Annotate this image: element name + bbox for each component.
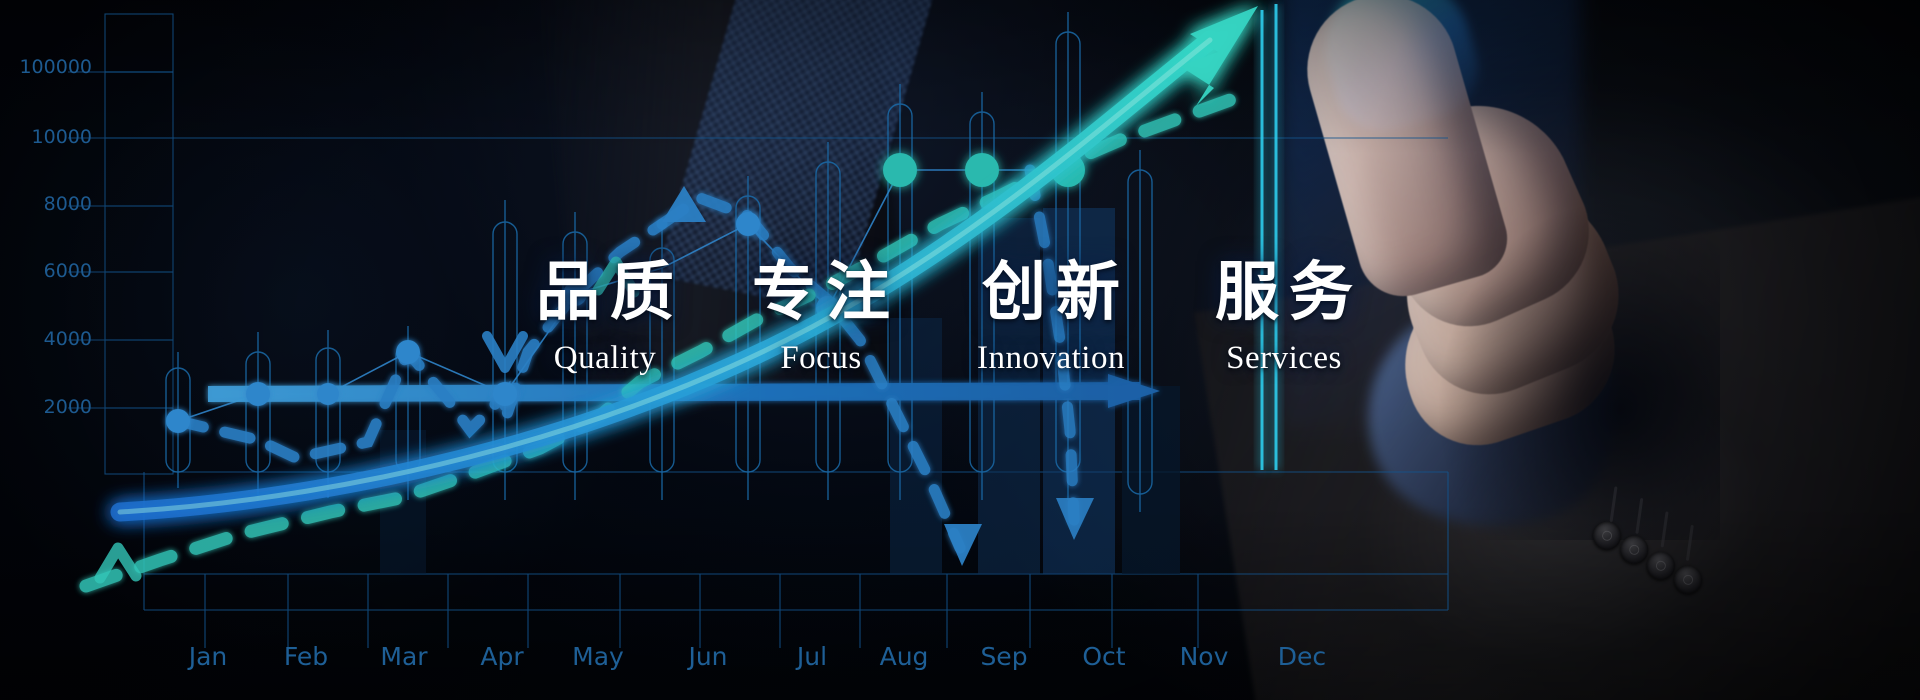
y-tick-label: 10000 [0, 126, 92, 148]
x-tick-label-jul: Jul [797, 642, 827, 671]
slogan-cn-text: 创新 [952, 258, 1150, 330]
slogan-focus: 专注 Focus [736, 258, 906, 377]
slogan-cn-text: 专注 [736, 258, 906, 330]
x-tick-label-aug: Aug [880, 642, 929, 671]
slogan-innovation: 创新 Innovation [952, 258, 1150, 377]
x-tick-label-jun: Jun [688, 642, 727, 671]
y-tick-label: 100000 [0, 56, 92, 78]
x-tick-label-may: May [572, 642, 624, 671]
slogan-en-text: Focus [736, 340, 906, 377]
slogan-services: 服务 Services [1196, 258, 1372, 377]
x-tick-label-mar: Mar [380, 642, 427, 671]
slogan-cn-text: 服务 [1196, 258, 1372, 330]
slogan-en-text: Quality [520, 340, 690, 377]
x-tick-label-sep: Sep [980, 642, 1027, 671]
fingertip-spikes [1262, 4, 1276, 470]
x-tick-label-nov: Nov [1180, 642, 1229, 671]
dashed-arrow-down [944, 524, 982, 566]
slogan-en-text: Services [1196, 340, 1372, 377]
x-tick-label-feb: Feb [284, 642, 328, 671]
hero-banner: 100000 10000 8000 6000 4000 2000 Jan Feb… [0, 0, 1920, 700]
slogan-quality: 品质 Quality [520, 258, 690, 377]
x-tick-label-apr: Apr [480, 642, 523, 671]
x-tick-label-oct: Oct [1082, 642, 1125, 671]
x-tick-label-jan: Jan [189, 642, 228, 671]
y-tick-label: 2000 [0, 396, 92, 418]
y-tick-label: 4000 [0, 328, 92, 350]
y-tick-label: 8000 [0, 193, 92, 215]
y-tick-label: 6000 [0, 260, 92, 282]
slogan-group: 品质 Quality 专注 Focus 创新 Innovation 服务 Ser… [520, 258, 1372, 377]
x-tick-label-dec: Dec [1278, 642, 1326, 671]
slogan-cn-text: 品质 [520, 258, 690, 330]
slogan-en-text: Innovation [952, 340, 1150, 377]
dashed-arrow-up [662, 186, 706, 222]
